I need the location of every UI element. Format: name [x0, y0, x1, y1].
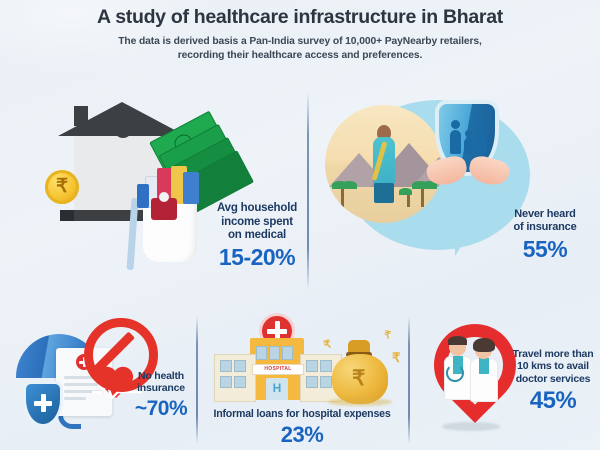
hand-right-icon — [466, 154, 511, 189]
stat-panel-informal-loans: HOSPITAL H ₹ ₹ ₹ ₹ Informal loans for ho… — [196, 312, 408, 450]
caption-line-1: Never heard — [493, 208, 597, 221]
caption-line-1: Avg household — [208, 202, 306, 216]
hand-left-icon — [424, 154, 469, 189]
hospital-sign: HOSPITAL — [252, 364, 304, 375]
stat-panel-travel-distance: Travel more than 10 kms to avail doctor … — [408, 312, 600, 450]
caption-informal-loans: Informal loans for hospital expenses 23% — [196, 408, 408, 446]
page-subtitle-line2: recording their healthcare access and pr… — [0, 49, 600, 63]
family-shield-icon — [425, 96, 535, 226]
stat-value-never-heard-insurance: 55% — [493, 237, 597, 261]
doctors-icon — [444, 334, 508, 408]
stat-panel-never-heard-insurance: Never heard of insurance 55% — [307, 90, 600, 290]
caption-line-1: Informal loans for hospital expenses — [196, 408, 408, 421]
stat-value-no-health-insurance: ~70% — [126, 398, 196, 420]
header: A study of healthcare infrastructure in … — [0, 0, 600, 63]
hospital-icon: HOSPITAL H — [210, 316, 340, 406]
medicine-bag-icon — [95, 138, 215, 238]
stat-value-travel-distance: 45% — [506, 388, 600, 413]
page-subtitle: The data is derived basis a Pan-India su… — [0, 35, 600, 63]
caption-line-1: No health — [126, 370, 196, 382]
caption-line-3: doctor services — [506, 373, 600, 385]
caption-line-2: insurance — [126, 382, 196, 394]
caption-line-1: Travel more than — [506, 348, 600, 360]
page-title: A study of healthcare infrastructure in … — [0, 6, 600, 29]
speech-bubble-tail-icon — [455, 230, 471, 256]
caption-travel-distance: Travel more than 10 kms to avail doctor … — [506, 348, 600, 413]
rupee-coin-icon: ₹ — [45, 170, 79, 204]
caption-avg-household-income: Avg household income spent on medical 15… — [208, 202, 306, 269]
page-subtitle-line1: The data is derived basis a Pan-India su… — [0, 35, 600, 49]
caption-line-2: income spent — [208, 216, 306, 230]
caption-line-2: of insurance — [493, 221, 597, 234]
money-bag-icon: ₹ ₹ ₹ ₹ — [322, 322, 412, 410]
stat-value-informal-loans: 23% — [196, 423, 408, 446]
caption-line-2: 10 kms to avail — [506, 360, 600, 372]
caption-no-health-insurance: No health insurance ~70% — [126, 370, 196, 420]
stat-panel-no-health-insurance: No health insurance ~70% — [0, 312, 196, 450]
caption-line-3: on medical — [208, 229, 306, 243]
hospital-door: H — [266, 378, 288, 400]
stat-value-avg-household-income: 15-20% — [208, 245, 306, 269]
infographic-root: A study of healthcare infrastructure in … — [0, 0, 600, 450]
caption-never-heard-insurance: Never heard of insurance 55% — [493, 208, 597, 261]
stat-panel-avg-household-income: ₹ Avg household income spent on medical … — [0, 90, 307, 290]
